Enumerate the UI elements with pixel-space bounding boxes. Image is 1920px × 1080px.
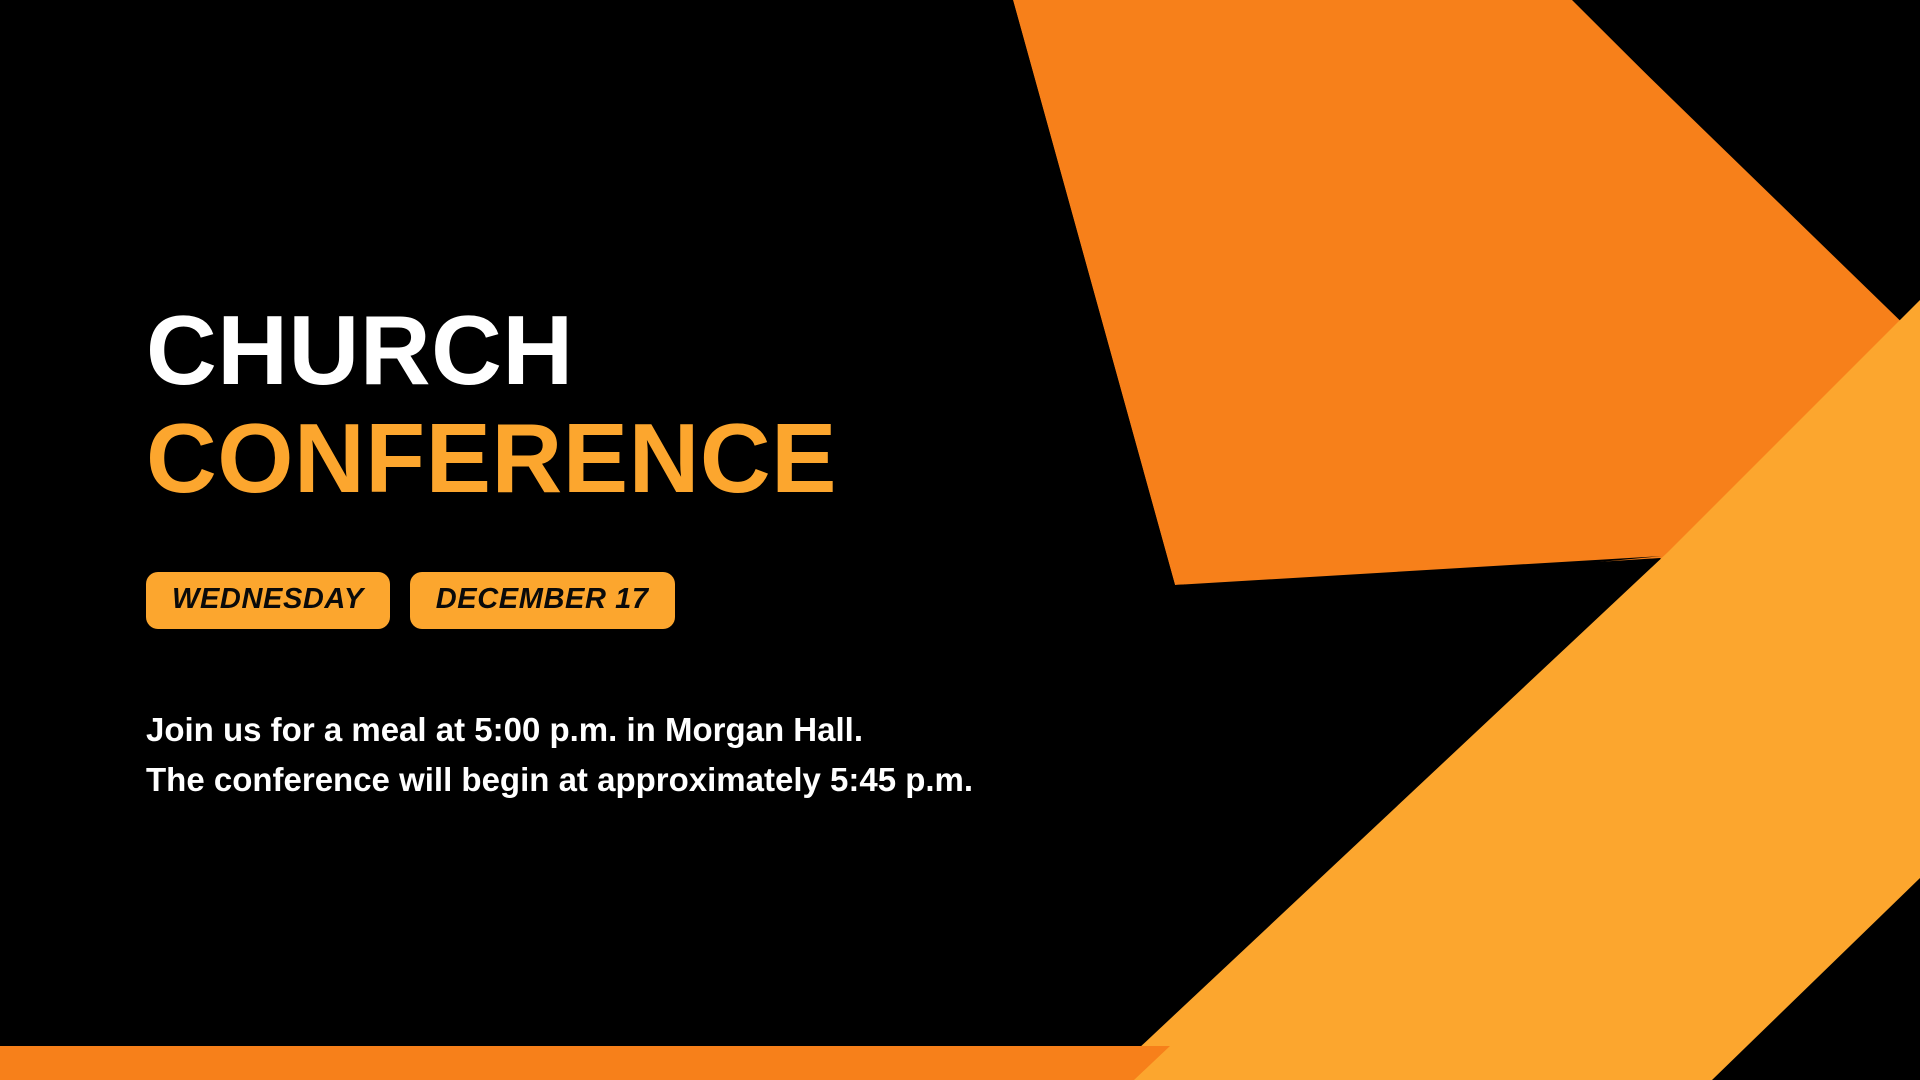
page-title: CHURCH CONFERENCE bbox=[146, 300, 1326, 510]
announcement-slide: CHURCH CONFERENCE WEDNESDAY DECEMBER 17 … bbox=[0, 0, 1920, 1080]
body-text: Join us for a meal at 5:00 p.m. in Morga… bbox=[146, 705, 1326, 805]
bottom-right-black-corner bbox=[1712, 878, 1920, 1080]
date-badge-row: WEDNESDAY DECEMBER 17 bbox=[146, 572, 1326, 629]
headline-line-conference: CONFERENCE bbox=[146, 408, 1326, 510]
body-line-start-time: The conference will begin at approximate… bbox=[146, 755, 1326, 805]
content-block: CHURCH CONFERENCE WEDNESDAY DECEMBER 17 … bbox=[146, 300, 1326, 805]
badge-weekday: WEDNESDAY bbox=[146, 572, 390, 629]
bottom-dark-orange-strip bbox=[0, 1046, 1170, 1080]
headline-line-church: CHURCH bbox=[146, 300, 1326, 402]
body-line-meal: Join us for a meal at 5:00 p.m. in Morga… bbox=[146, 705, 1326, 755]
badge-date: DECEMBER 17 bbox=[410, 572, 675, 629]
